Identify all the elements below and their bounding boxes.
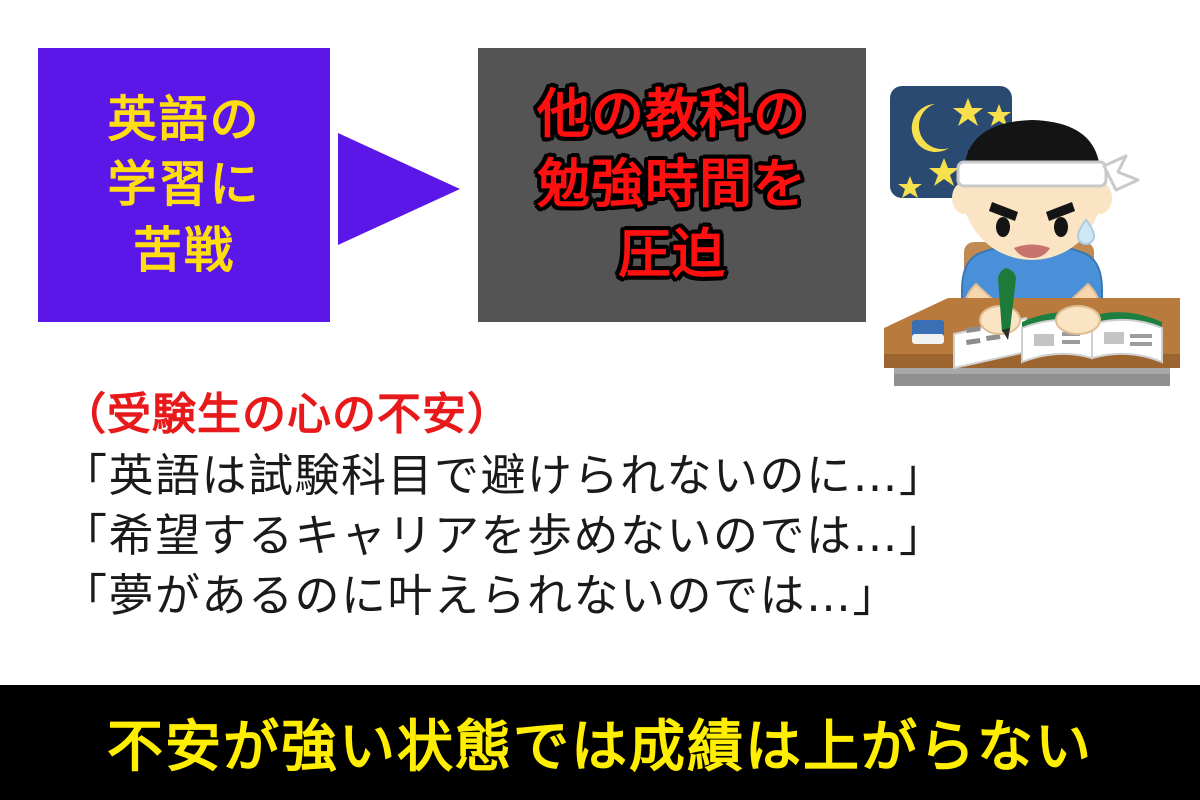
headband-icon	[958, 156, 1138, 190]
anxiety-quote-1: 「英語は試験科目で避けられないのに…」	[62, 446, 1152, 506]
problem-line-1: 英語の	[107, 87, 260, 152]
consequence-line-1: 他の教科の	[537, 80, 807, 150]
conclusion-banner: 不安が強い状態では成績は上がらない	[0, 685, 1200, 800]
consequence-box: 他の教科の 勉強時間を 圧迫	[478, 48, 866, 322]
right-arrow-icon	[338, 133, 460, 245]
consequence-line-2: 勉強時間を	[537, 150, 807, 220]
student-studying-illustration	[872, 72, 1192, 402]
problem-line-3: 苦戦	[133, 218, 235, 283]
eraser-icon	[912, 320, 944, 344]
problem-box: 英語の 学習に 苦戦	[38, 48, 330, 322]
anxiety-quote-list: 「英語は試験科目で避けられないのに…」 「希望するキャリアを歩めないのでは…」 …	[62, 446, 1152, 626]
anxiety-quote-3: 「夢があるのに叶えられないのでは…」	[62, 566, 1152, 626]
conclusion-banner-text: 不安が強い状態では成績は上がらない	[107, 702, 1093, 783]
anxiety-heading: （受験生の心の不安）	[62, 378, 512, 442]
anxiety-quote-2: 「希望するキャリアを歩めないのでは…」	[62, 506, 1152, 566]
problem-line-2: 学習に	[107, 152, 260, 217]
consequence-line-3: 圧迫	[618, 220, 726, 290]
slide-canvas: 英語の 学習に 苦戦 他の教科の 勉強時間を 圧迫	[0, 0, 1200, 800]
